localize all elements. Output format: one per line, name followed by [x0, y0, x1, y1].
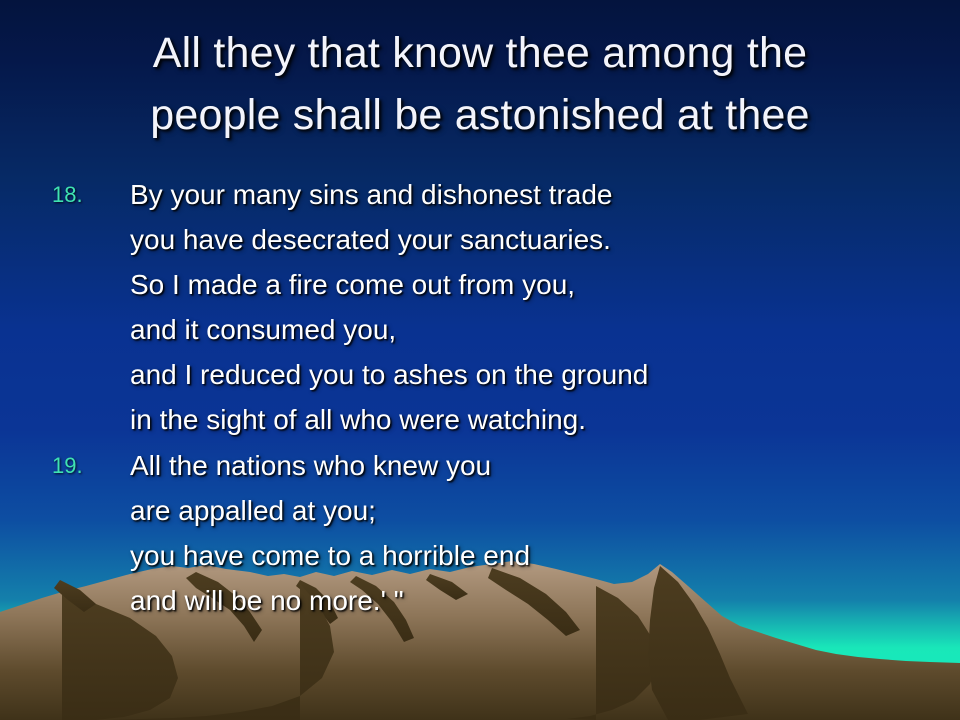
verse-line: By your many sins and dishonest trade — [130, 172, 960, 217]
verse-line: and it consumed you, — [130, 307, 960, 352]
slide-body: 18. By your many sins and dishonest trad… — [0, 172, 960, 623]
slide-title-line-2: people shall be astonished at thee — [28, 84, 932, 146]
slide-title: All they that know thee among the people… — [28, 22, 932, 146]
verse-line: So I made a fire come out from you, — [130, 262, 960, 307]
verse-line: you have come to a horrible end — [130, 533, 960, 578]
verse-line: in the sight of all who were watching. — [130, 397, 960, 442]
verse-line: and will be no more.' " — [130, 578, 960, 623]
verse-block: 18. By your many sins and dishonest trad… — [0, 172, 960, 442]
presentation-slide: All they that know thee among the people… — [0, 0, 960, 720]
verse-number: 18. — [0, 172, 130, 217]
verse-line: All the nations who knew you — [130, 443, 960, 488]
verse-line: are appalled at you; — [130, 488, 960, 533]
slide-title-line-1: All they that know thee among the — [28, 22, 932, 84]
verse-text: All the nations who knew you are appalle… — [130, 443, 960, 623]
verse-text: By your many sins and dishonest trade yo… — [130, 172, 960, 442]
verse-block: 19. All the nations who knew you are app… — [0, 443, 960, 623]
verse-line: and I reduced you to ashes on the ground — [130, 352, 960, 397]
verse-line: you have desecrated your sanctuaries. — [130, 217, 960, 262]
verse-number: 19. — [0, 443, 130, 488]
